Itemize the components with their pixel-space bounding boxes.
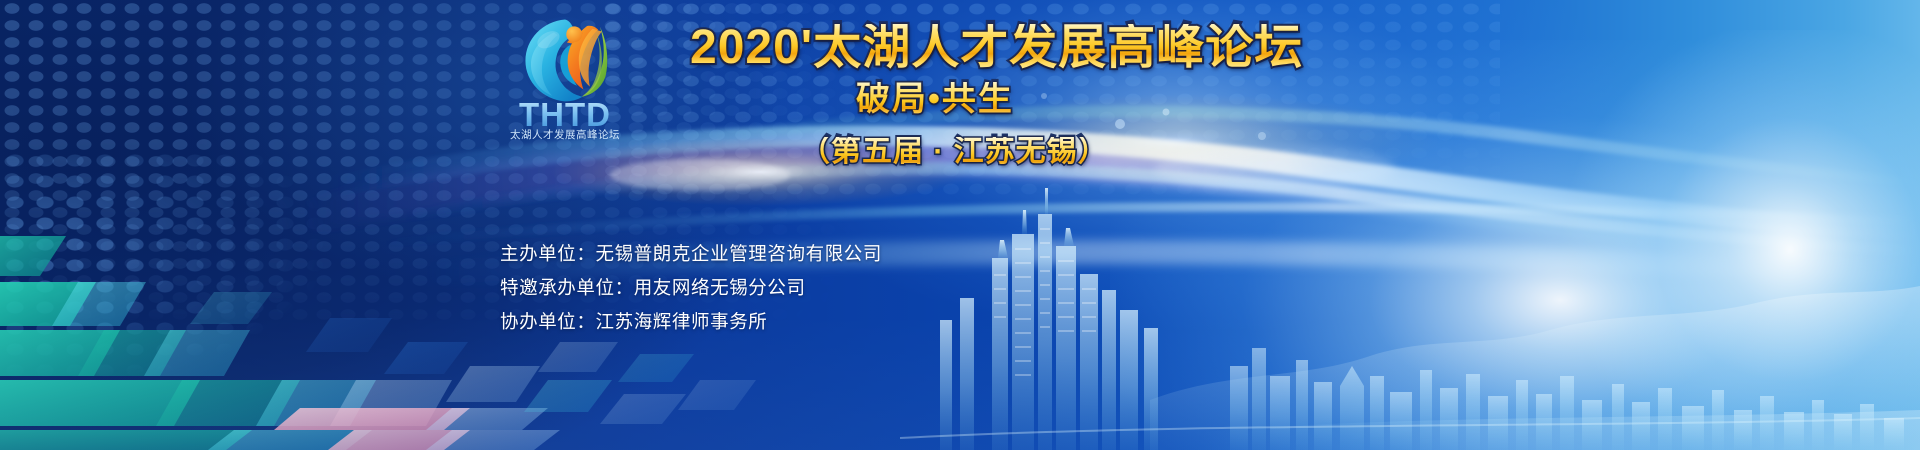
event-logo: THTD 太湖人才发展高峰论坛 bbox=[500, 10, 630, 135]
organizer-line-host: 主办单位：无锡普朗克企业管理咨询有限公司 bbox=[500, 240, 882, 266]
organizer-line-supporter: 协办单位：江苏海辉律师事务所 bbox=[500, 308, 767, 334]
event-banner: THTD 太湖人才发展高峰论坛 2020'太湖人才发展高峰论坛 2020'太湖人… bbox=[0, 0, 1920, 450]
subtitle: 破局•共生 bbox=[856, 82, 1014, 116]
thtd-emblem-icon bbox=[518, 14, 612, 106]
edition-line: （第五届 · 江苏无锡） bbox=[800, 137, 1109, 167]
halftone-dot-pattern-left bbox=[0, 150, 520, 380]
organizer-line-coorganizer: 特邀承办单位：用友网络无锡分公司 bbox=[500, 274, 806, 300]
main-title: 2020'太湖人才发展高峰论坛 bbox=[690, 24, 1303, 72]
logo-subtitle: 太湖人才发展高峰论坛 bbox=[500, 127, 630, 142]
